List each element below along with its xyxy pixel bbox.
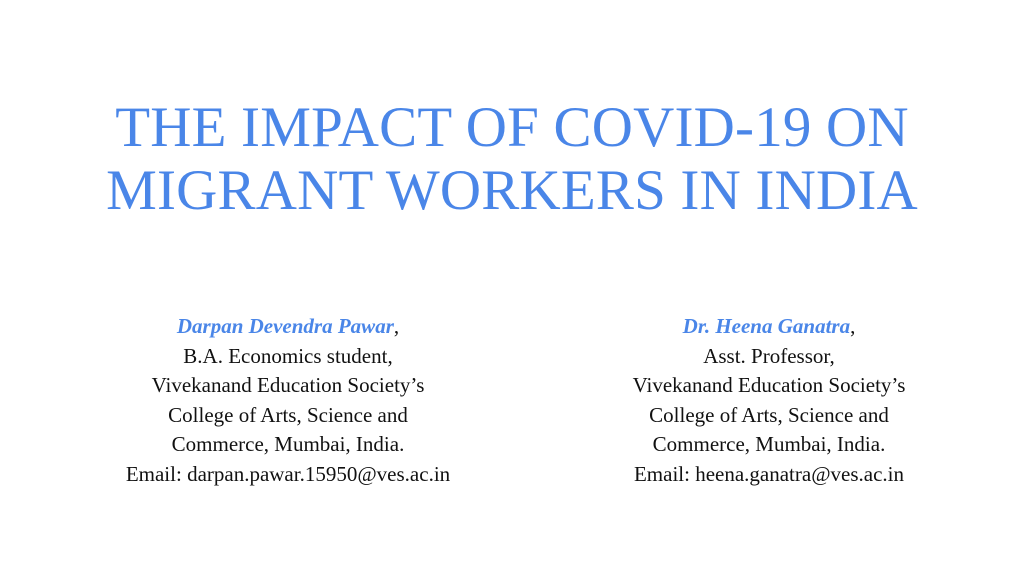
author-name-punctuation: , — [850, 314, 855, 338]
author-name-text: Darpan Devendra Pawar — [177, 314, 394, 338]
author-role: Asst. Professor, — [559, 342, 979, 372]
author-name: Darpan Devendra Pawar, — [78, 312, 498, 342]
page-title: THE IMPACT OF COVID-19 ON MIGRANT WORKER… — [62, 96, 962, 222]
author-role: B.A. Economics student, — [78, 342, 498, 372]
author-block-secondary: Dr. Heena Ganatra, Asst. Professor, Vive… — [559, 312, 979, 489]
author-list: Darpan Devendra Pawar, B.A. Economics st… — [0, 312, 1024, 489]
author-name-punctuation: , — [394, 314, 399, 338]
author-name: Dr. Heena Ganatra, — [559, 312, 979, 342]
author-affiliation-line-3: Commerce, Mumbai, India. — [78, 430, 498, 460]
author-affiliation-line-3: Commerce, Mumbai, India. — [559, 430, 979, 460]
author-email: Email: heena.ganatra@ves.ac.in — [559, 460, 979, 490]
title-slide: THE IMPACT OF COVID-19 ON MIGRANT WORKER… — [0, 0, 1024, 576]
author-name-text: Dr. Heena Ganatra — [683, 314, 850, 338]
author-email: Email: darpan.pawar.15950@ves.ac.in — [78, 460, 498, 490]
title-line-2: MIGRANT WORKERS IN INDIA — [62, 159, 962, 222]
author-affiliation-line-1: Vivekanand Education Society’s — [559, 371, 979, 401]
author-block-primary: Darpan Devendra Pawar, B.A. Economics st… — [78, 312, 498, 489]
author-affiliation-line-2: College of Arts, Science and — [78, 401, 498, 431]
author-affiliation-line-1: Vivekanand Education Society’s — [78, 371, 498, 401]
author-affiliation-line-2: College of Arts, Science and — [559, 401, 979, 431]
title-line-1: THE IMPACT OF COVID-19 ON — [62, 96, 962, 159]
